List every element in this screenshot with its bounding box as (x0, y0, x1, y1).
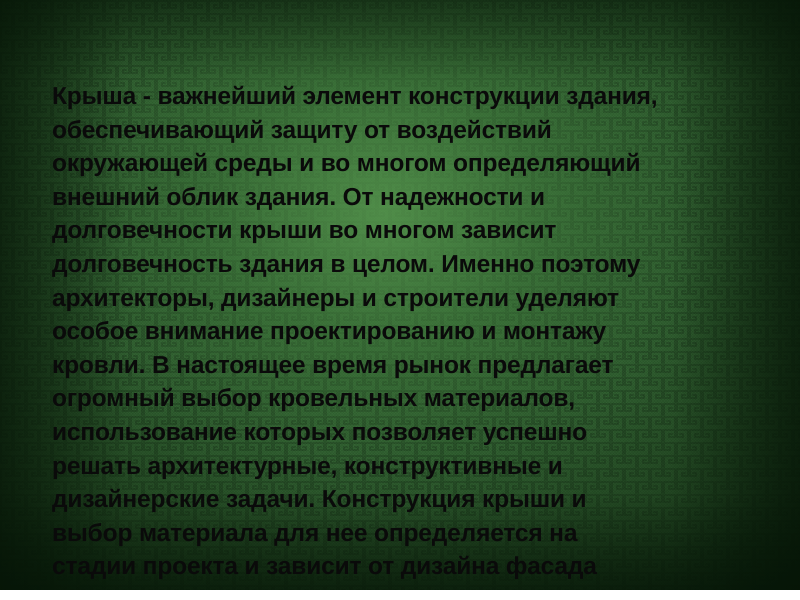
slide-canvas: Крыша - важнейший элемент конструкции зд… (0, 0, 800, 590)
slide-body-text: Крыша - важнейший элемент конструкции зд… (52, 80, 700, 590)
presentation-slide: Крыша - важнейший элемент конструкции зд… (0, 0, 800, 600)
slide-bottom-strip (0, 590, 800, 600)
